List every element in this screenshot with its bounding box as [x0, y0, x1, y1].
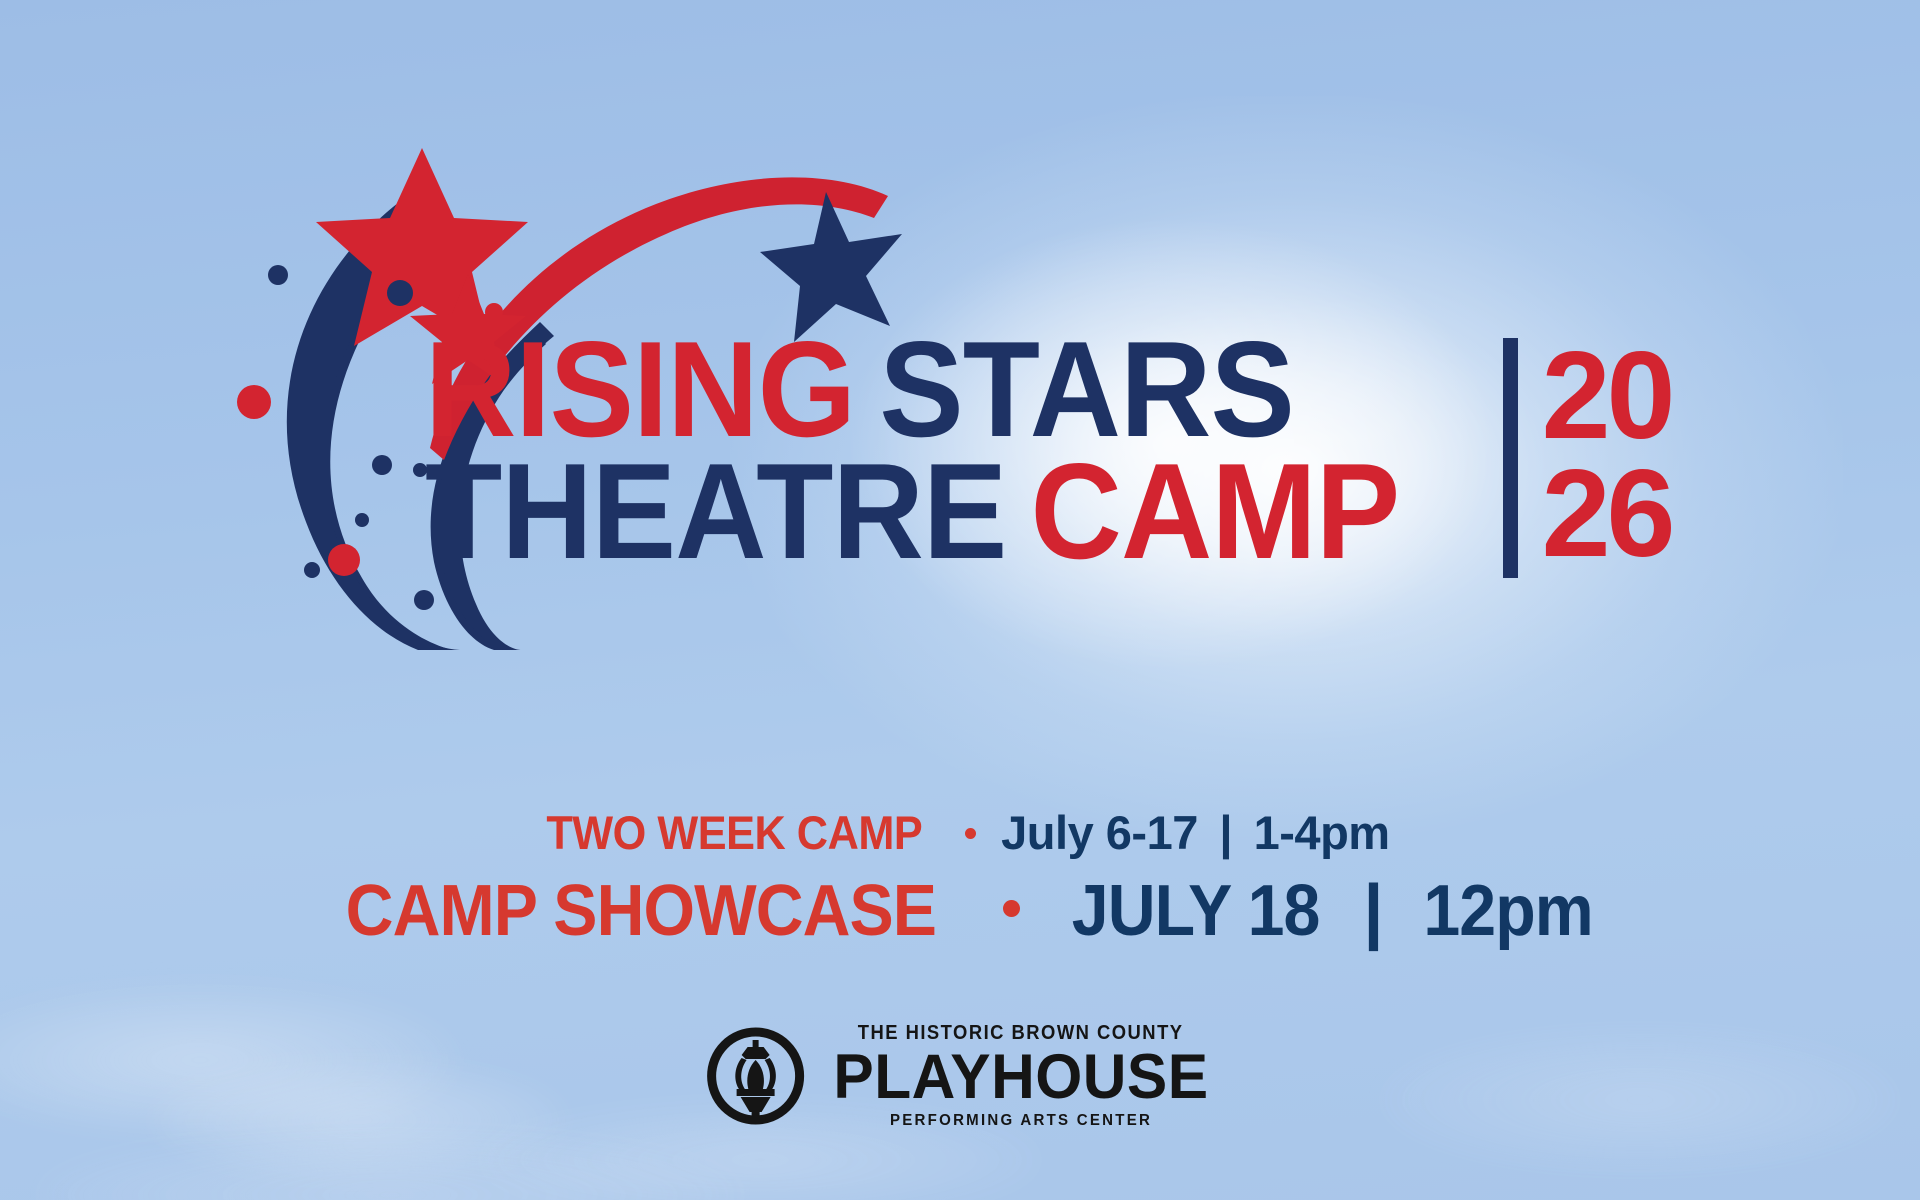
bullet-separator-icon — [965, 828, 976, 839]
playhouse-name: PLAYHOUSE — [833, 1046, 1208, 1109]
camp-time: 1-4pm — [1254, 806, 1390, 859]
showcase-time: 12pm — [1423, 870, 1592, 952]
year-bottom: 26 — [1542, 456, 1672, 574]
pipe-separator: | — [1363, 871, 1382, 951]
playhouse-wordmark: THE HISTORIC BROWN COUNTY PLAYHOUSE PERF… — [826, 1022, 1217, 1130]
pipe-separator: | — [1219, 806, 1232, 859]
word-stars: STARS — [879, 330, 1294, 450]
wordmark-lines: RISING STARS THEATRE CAMP — [425, 330, 1473, 571]
playhouse-logo[interactable]: THE HISTORIC BROWN COUNTY PLAYHOUSE PERF… — [704, 1022, 1217, 1130]
wordmark-line-1: RISING STARS — [425, 330, 1399, 450]
confetti-dot-navy — [387, 280, 413, 306]
confetti-dot-navy — [414, 590, 434, 610]
year-digits: 20 26 — [1542, 338, 1672, 578]
bullet-separator-icon — [1003, 900, 1020, 917]
confetti-dot-navy — [372, 455, 392, 475]
year-block: 20 26 — [1503, 338, 1672, 578]
confetti-dot-red — [237, 385, 271, 419]
camp-dates-line: TWO WEEK CAMP July 6-17 | 1-4pm — [0, 805, 1920, 860]
wordmark: RISING STARS THEATRE CAMP 20 26 — [425, 330, 1672, 578]
year-divider-bar — [1503, 338, 1518, 578]
lantern-glyph — [735, 1040, 776, 1121]
confetti-dot-navy — [355, 513, 369, 527]
confetti-dot-red — [328, 544, 360, 576]
confetti-dot-navy — [304, 562, 320, 578]
camp-date-range: July 6-17 — [1001, 806, 1198, 859]
showcase-date: JULY 18 — [1072, 870, 1320, 952]
showcase-line: CAMP SHOWCASE JULY 18 | 12pm — [0, 870, 1920, 952]
wordmark-line-2: THEATRE CAMP — [425, 452, 1399, 572]
word-theatre: THEATRE — [425, 452, 1006, 572]
year-top: 20 — [1542, 338, 1672, 456]
cloud-wisp — [1380, 1030, 1900, 1170]
event-info: TWO WEEK CAMP July 6-17 | 1-4pm CAMP SHO… — [0, 805, 1920, 952]
lantern-in-circle-icon — [704, 1024, 808, 1128]
camp-showcase-label: CAMP SHOWCASE — [346, 870, 936, 952]
word-camp: CAMP — [1031, 452, 1400, 572]
two-week-camp-label: TWO WEEK CAMP — [547, 805, 923, 860]
confetti-dot-navy — [268, 265, 288, 285]
poster-canvas: RISING STARS THEATRE CAMP 20 26 TWO WEEK… — [0, 0, 1920, 1200]
word-rising: RISING — [425, 330, 855, 450]
playhouse-tagline-sub: PERFORMING ARTS CENTER — [890, 1112, 1152, 1130]
